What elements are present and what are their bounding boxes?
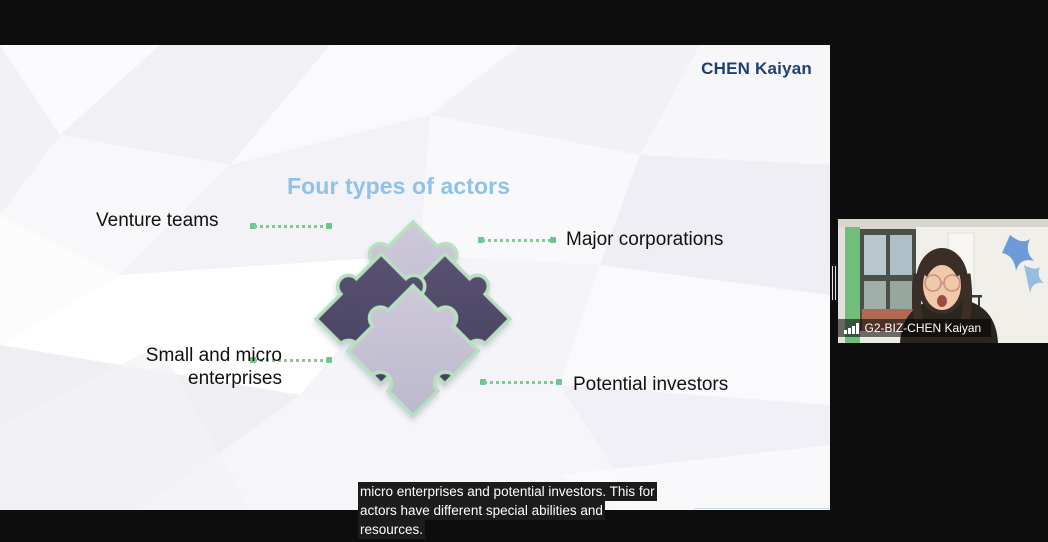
- connector-venture-teams: [250, 222, 332, 231]
- presentation-slide[interactable]: CHEN Kaiyan Four types of actors: [0, 45, 830, 510]
- actor-label-small-micro-enterprises: Small and micro enterprises: [82, 344, 282, 390]
- connector-dot: [550, 237, 556, 243]
- actor-label-venture-teams: Venture teams: [96, 209, 219, 232]
- connector-dot: [326, 357, 332, 363]
- connector-dash: [482, 239, 552, 242]
- connector-dash: [254, 225, 328, 228]
- handle-line: [835, 266, 836, 300]
- connector-potential-investors: [480, 378, 562, 387]
- actor-label-major-corporations: Major corporations: [566, 228, 723, 251]
- live-caption-overlay: micro enterprises and potential investor…: [358, 482, 690, 539]
- handle-line: [832, 266, 833, 300]
- caption-line: actors have different special abilities …: [358, 501, 605, 520]
- connector-dot: [556, 379, 562, 385]
- participant-video-tile[interactable]: G2-BIZ-CHEN Kaiyan: [838, 219, 1048, 343]
- meeting-screen-share-view: CHEN Kaiyan Four types of actors: [0, 0, 1048, 542]
- connector-dash: [484, 381, 558, 384]
- connector-dot: [326, 223, 332, 229]
- sogou-ime-toolbar[interactable]: S 中: [694, 508, 830, 510]
- actor-label-potential-investors: Potential investors: [573, 373, 728, 396]
- participant-name-text: G2-BIZ-CHEN Kaiyan: [865, 321, 982, 335]
- participant-name-label: G2-BIZ-CHEN Kaiyan: [838, 319, 991, 337]
- connector-major-corporations: [478, 236, 556, 245]
- panel-resize-handle[interactable]: [830, 264, 838, 302]
- presenter-name: CHEN Kaiyan: [701, 59, 812, 79]
- caption-line: resources.: [358, 520, 425, 539]
- puzzle-pieces-graphic: [296, 195, 530, 447]
- caption-line: micro enterprises and potential investor…: [358, 482, 657, 501]
- signal-bars-icon: [844, 323, 859, 334]
